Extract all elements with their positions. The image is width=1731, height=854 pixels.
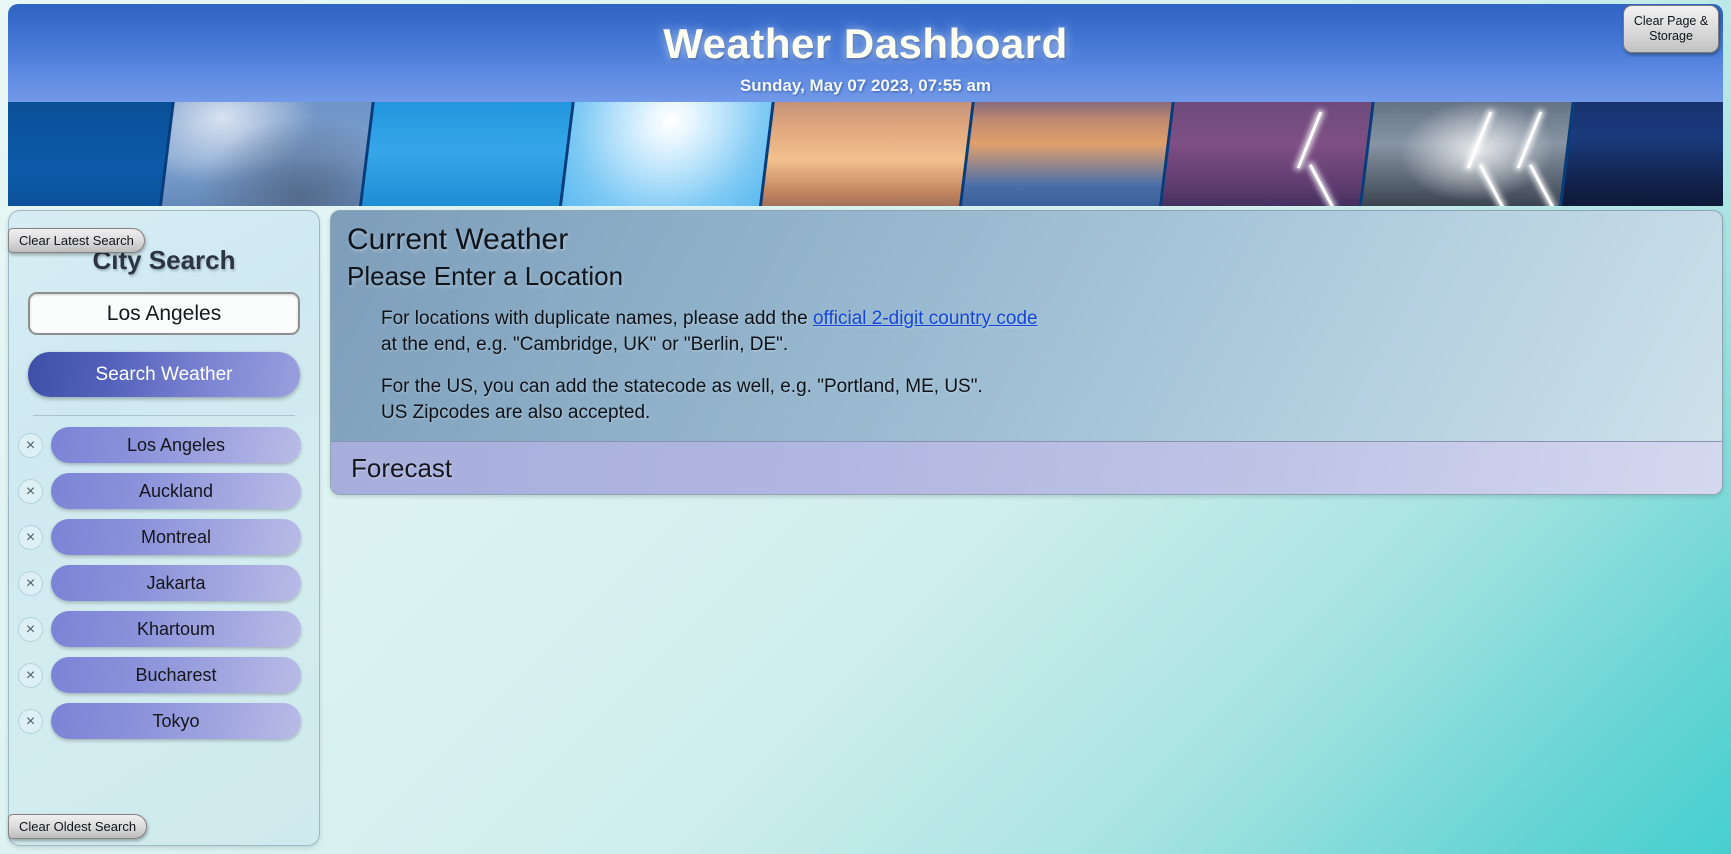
duplicate-names-instruction: For locations with duplicate names, plea… (381, 306, 1722, 332)
city-button-montreal[interactable]: Montreal (51, 519, 301, 555)
banner-pane-sunburst (560, 102, 773, 206)
clear-latest-search-button[interactable]: Clear Latest Search (8, 228, 145, 253)
page-title: Weather Dashboard (8, 20, 1723, 68)
banner-pane-purple-lightning (1160, 102, 1373, 206)
city-button-khartoum[interactable]: Khartoum (51, 611, 301, 647)
please-enter-location-heading: Please Enter a Location (347, 261, 1722, 292)
recent-city-list: ×Los Angeles×Auckland×Montreal×Jakarta×K… (9, 427, 319, 739)
delete-city-icon[interactable]: × (18, 433, 43, 458)
list-item: ×Khartoum (13, 611, 319, 647)
delete-city-icon[interactable]: × (18, 709, 43, 734)
delete-city-icon[interactable]: × (18, 663, 43, 688)
delete-city-icon[interactable]: × (18, 617, 43, 642)
banner-pane-sunset-clouds (760, 102, 973, 206)
banner-pane-clear-blue-sky (360, 102, 573, 206)
forecast-heading: Forecast (351, 453, 452, 484)
list-item: ×Bucharest (13, 657, 319, 693)
clear-page-storage-button[interactable]: Clear Page & Storage (1623, 5, 1719, 53)
banner-panels (8, 102, 1723, 206)
header-date: Sunday, May 07 2023, 07:55 am (8, 76, 1723, 96)
lightning-bolt-icon (1528, 110, 1530, 206)
lightning-bolt-icon (1308, 110, 1310, 206)
weather-banner-strip (8, 102, 1723, 206)
search-input[interactable] (28, 292, 300, 335)
city-button-jakarta[interactable]: Jakarta (51, 565, 301, 601)
lightning-bolt-icon (1478, 110, 1480, 206)
current-weather-panel: Current Weather Please Enter a Location … (330, 210, 1723, 495)
forecast-section: Forecast (331, 441, 1722, 494)
list-item: ×Tokyo (13, 703, 319, 739)
banner-pane-dusk-clouds (960, 102, 1173, 206)
clear-oldest-search-button[interactable]: Clear Oldest Search (8, 814, 147, 839)
list-item: ×Los Angeles (13, 427, 319, 463)
search-weather-button[interactable]: Search Weather (28, 352, 300, 397)
us-zipcodes-instruction: US Zipcodes are also accepted. (381, 400, 1722, 426)
delete-city-icon[interactable]: × (18, 571, 43, 596)
list-item: ×Montreal (13, 519, 319, 555)
city-button-los-angeles[interactable]: Los Angeles (51, 427, 301, 463)
delete-city-icon[interactable]: × (18, 525, 43, 550)
banner-pane-night-storm-clouds (1560, 102, 1723, 206)
list-item: ×Auckland (13, 473, 319, 509)
duplicate-names-suffix: at the end, e.g. "Cambridge, UK" or "Ber… (381, 332, 1722, 358)
delete-city-icon[interactable]: × (18, 479, 43, 504)
current-weather-heading: Current Weather (347, 223, 1722, 257)
banner-pane-deep-blue-sky (8, 102, 173, 206)
sidebar-divider (33, 415, 295, 416)
city-search-sidebar: City Search Search Weather ×Los Angeles×… (8, 210, 320, 846)
banner-pane-storm-lightning (1360, 102, 1573, 206)
page-header: Weather Dashboard Sunday, May 07 2023, 0… (8, 4, 1723, 102)
banner-pane-cloudy-sky (160, 102, 373, 206)
list-item: ×Jakarta (13, 565, 319, 601)
city-button-tokyo[interactable]: Tokyo (51, 703, 301, 739)
country-code-link[interactable]: official 2-digit country code (813, 308, 1038, 329)
city-button-bucharest[interactable]: Bucharest (51, 657, 301, 693)
us-statecode-instruction: For the US, you can add the statecode as… (381, 374, 1722, 400)
city-button-auckland[interactable]: Auckland (51, 473, 301, 509)
duplicate-names-prefix: For locations with duplicate names, plea… (381, 308, 813, 329)
